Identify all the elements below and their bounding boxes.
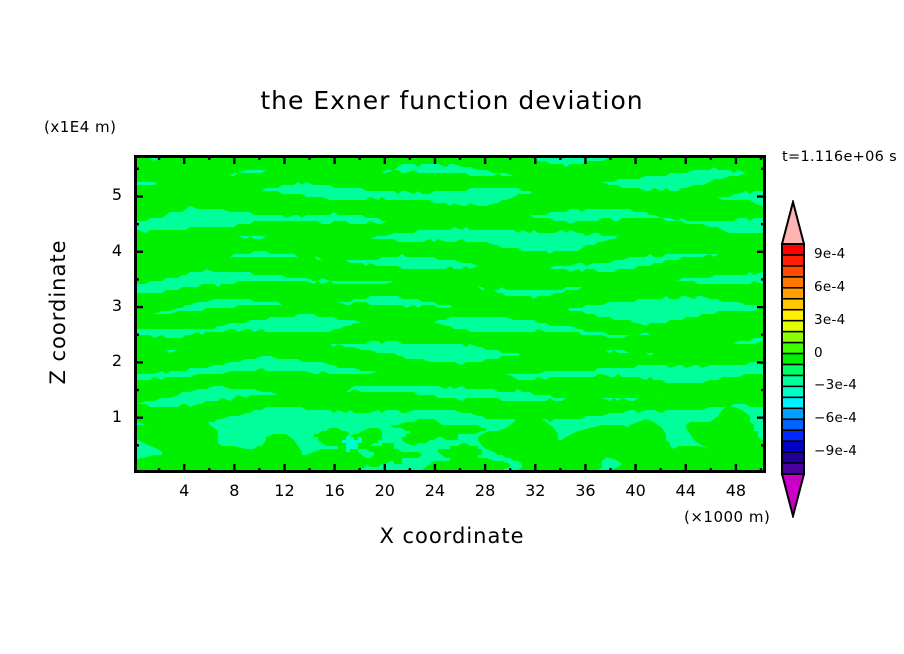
page-title: the Exner function deviation <box>0 86 904 115</box>
x-tick-label: 44 <box>666 481 706 500</box>
y-tick-label: 3 <box>92 296 122 315</box>
x-tick-label: 28 <box>465 481 505 500</box>
x-tick-label: 8 <box>214 481 254 500</box>
x-tick-label: 36 <box>565 481 605 500</box>
contour-field <box>134 155 766 473</box>
x-tick-label: 24 <box>415 481 455 500</box>
time-annotation: t=1.116e+06 s <box>782 149 897 165</box>
colorbar-tick-label: 9e-4 <box>814 246 846 262</box>
colorbar-tick-label: 6e-4 <box>814 279 846 295</box>
colorbar-tick-label: 0 <box>814 345 823 361</box>
y-axis-units-label: (x1E4 m) <box>44 118 117 136</box>
colorbar-tick-label: −9e-4 <box>814 443 857 459</box>
colorbar <box>776 200 812 518</box>
y-tick-label: 1 <box>92 407 122 426</box>
colorbar-tick-label: 3e-4 <box>814 312 846 328</box>
y-tick-label: 5 <box>92 185 122 204</box>
y-tick-label: 4 <box>92 241 122 260</box>
x-tick-label: 48 <box>716 481 756 500</box>
x-tick-label: 32 <box>515 481 555 500</box>
x-tick-label: 12 <box>264 481 304 500</box>
x-tick-label: 4 <box>164 481 204 500</box>
y-axis-title: Z coordinate <box>46 202 70 422</box>
x-tick-label: 20 <box>365 481 405 500</box>
x-tick-label: 40 <box>616 481 656 500</box>
colorbar-tick-label: −3e-4 <box>814 377 857 393</box>
x-tick-label: 16 <box>315 481 355 500</box>
y-tick-label: 2 <box>92 351 122 370</box>
contour-plot-area <box>134 155 766 473</box>
x-axis-title: X coordinate <box>0 524 904 548</box>
colorbar-swatches <box>776 200 812 518</box>
colorbar-tick-label: −6e-4 <box>814 410 857 426</box>
